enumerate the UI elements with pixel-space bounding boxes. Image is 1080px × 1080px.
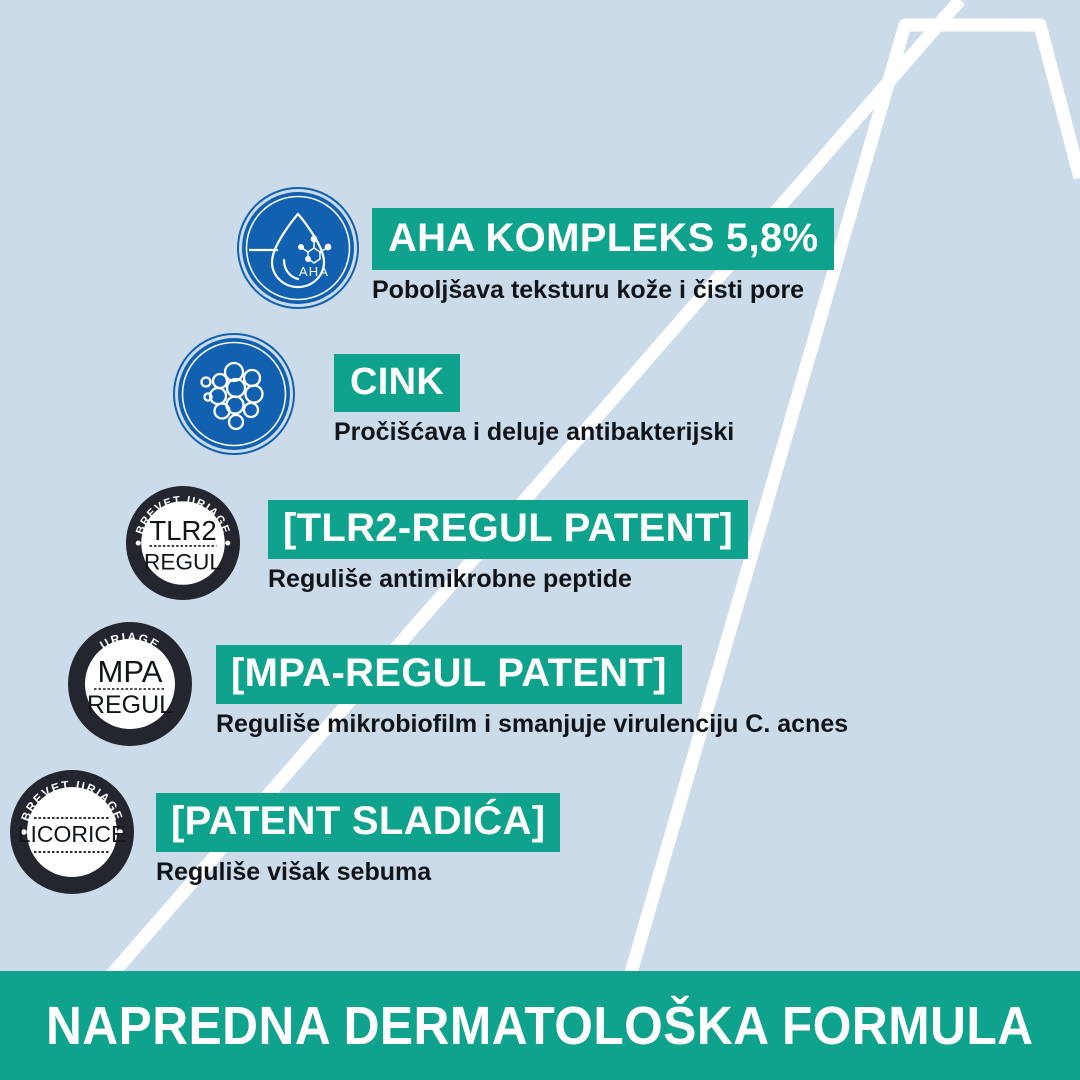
ingredient-icon-licorice[interactable]: BREVET URIAGE URIAGE PATENT LICORICE <box>8 768 136 896</box>
ingredient-text-licorice: [PATENT SLADIĆA] Reguliše višak sebuma <box>156 793 560 887</box>
tlr2-regul-patent-badge: BREVET URIAGE URIAGE PATENT TLR2 REGUL <box>124 484 242 602</box>
mpa-badge-line1: MPA <box>98 654 163 689</box>
ingredient-title-cink: CINK <box>334 354 460 412</box>
ingredient-icon-mpa[interactable]: URIAGE BREVET DÉPOSÉ • PATENT PENDING MP… <box>66 620 194 748</box>
banner-title: NAPREDNA DERMATOLOŠKA FORMULA <box>46 995 1034 1057</box>
ingredient-title-tlr2: [TLR2-REGUL PATENT] <box>268 500 748 559</box>
ingredient-title-licorice: [PATENT SLADIĆA] <box>156 793 560 852</box>
ingredient-description-aha: Poboljšava teksturu kože i čisti pore <box>372 277 834 305</box>
mpa-regul-patent-badge: URIAGE BREVET DÉPOSÉ • PATENT PENDING MP… <box>66 620 194 748</box>
ingredient-description-cink: Pročišćava i deluje antibakterijski <box>334 419 734 447</box>
ingredient-icon-aha[interactable]: AHA <box>242 192 354 304</box>
ingredient-description-licorice: Reguliše višak sebuma <box>156 859 560 887</box>
ingredient-text-mpa: [MPA-REGUL PATENT] Reguliše mikrobiofilm… <box>216 645 848 739</box>
licorice-patent-badge: BREVET URIAGE URIAGE PATENT LICORICE <box>8 768 136 896</box>
ingredient-title-mpa: [MPA-REGUL PATENT] <box>216 645 682 704</box>
ingredient-title-aha: AHA KOMPLEKS 5,8% <box>372 208 834 270</box>
aha-icon-text: AHA <box>299 264 329 279</box>
ingredient-icon-tlr2[interactable]: BREVET URIAGE URIAGE PATENT TLR2 REGUL <box>124 484 242 602</box>
ingredient-icon-cink[interactable] <box>178 338 290 450</box>
aha-droplet-icon: AHA <box>242 192 354 304</box>
infographic-canvas: AHA AHA KOMPLEKS 5,8% Poboljšava tekstur… <box>0 0 1080 1080</box>
ingredient-description-mpa: Reguliše mikrobiofilm i smanjuje virulen… <box>216 711 848 739</box>
ingredient-description-tlr2: Reguliše antimikrobne peptide <box>268 566 748 594</box>
tlr2-badge-line2: REGUL <box>144 550 222 575</box>
zinc-molecules-icon <box>178 338 290 450</box>
ingredient-text-aha: AHA KOMPLEKS 5,8% Poboljšava teksturu ko… <box>372 208 834 305</box>
ingredient-text-tlr2: [TLR2-REGUL PATENT] Reguliše antimikrobn… <box>268 500 748 594</box>
bottom-banner: NAPREDNA DERMATOLOŠKA FORMULA <box>0 971 1080 1080</box>
tlr2-badge-line1: TLR2 <box>149 515 216 546</box>
mpa-badge-line2: REGUL <box>87 691 173 719</box>
ingredient-text-cink: CINK Pročišćava i deluje antibakterijski <box>334 354 734 447</box>
licorice-badge-line1: LICORICE <box>18 821 127 847</box>
